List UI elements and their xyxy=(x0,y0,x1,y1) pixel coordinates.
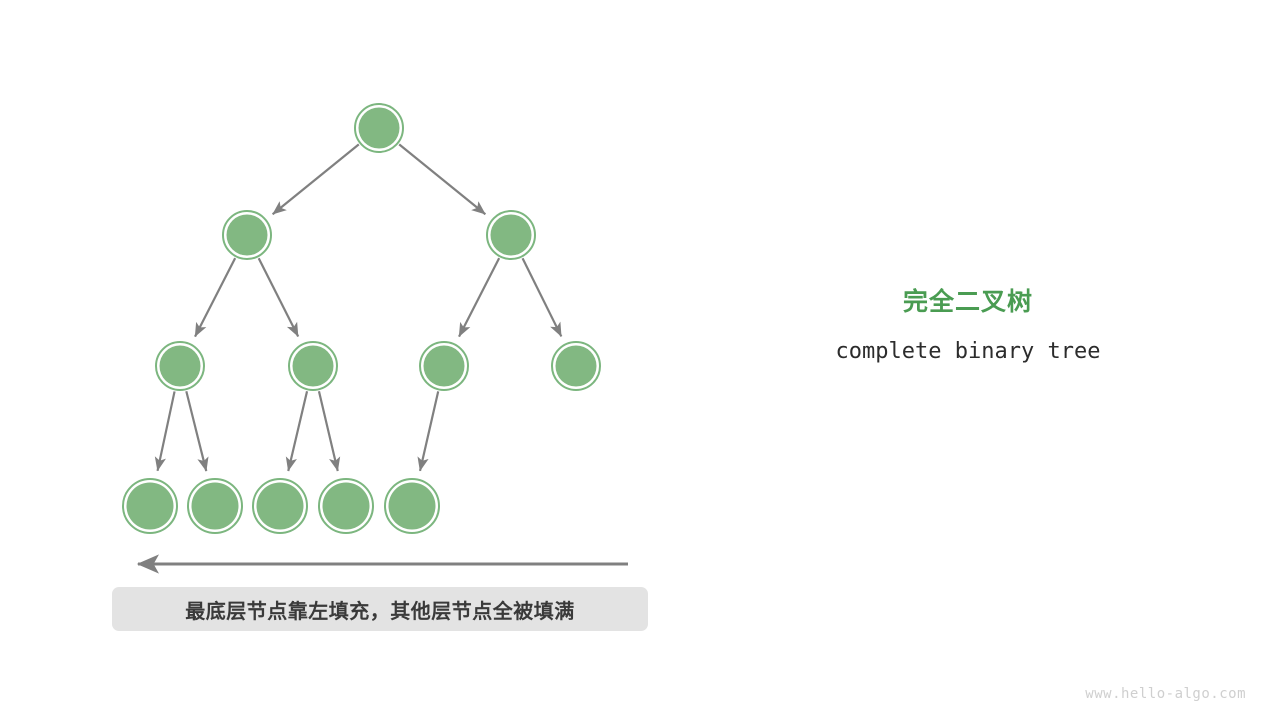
legend-block: 完全二叉树 complete binary tree xyxy=(700,285,1236,367)
tree-node-disc xyxy=(227,215,268,256)
tree-node xyxy=(552,342,600,390)
diagram-canvas: 完全二叉树 complete binary tree 最底层节点靠左填充，其他层… xyxy=(0,0,1280,720)
tree-node xyxy=(188,479,242,533)
tree-node-disc xyxy=(389,483,436,530)
tree-node-disc xyxy=(293,346,334,387)
tree-edge xyxy=(288,391,307,471)
tree-edge xyxy=(523,258,562,336)
tree-node xyxy=(289,342,337,390)
diagram-title-cn: 完全二叉树 xyxy=(700,285,1236,319)
tree-edge xyxy=(420,391,438,471)
tree-node-disc xyxy=(424,346,465,387)
diagram-subtitle-en: complete binary tree xyxy=(700,337,1236,367)
tree-node-disc xyxy=(192,483,239,530)
tree-node xyxy=(156,342,204,390)
tree-edge xyxy=(459,258,499,336)
tree-edge xyxy=(259,258,298,336)
tree-node-disc xyxy=(359,108,400,149)
tree-edge xyxy=(273,144,359,214)
tree-node xyxy=(385,479,439,533)
tree-node xyxy=(420,342,468,390)
caption-box: 最底层节点靠左填充，其他层节点全被填满 xyxy=(112,587,648,631)
tree-node xyxy=(223,211,271,259)
tree-node-disc xyxy=(556,346,597,387)
tree-node-disc xyxy=(160,346,201,387)
tree-node xyxy=(123,479,177,533)
watermark: www.hello-algo.com xyxy=(1085,686,1246,702)
tree-node xyxy=(487,211,535,259)
tree-edge xyxy=(186,391,206,471)
tree-edge xyxy=(399,144,485,214)
tree-node-disc xyxy=(257,483,304,530)
tree-node-disc xyxy=(127,483,174,530)
tree-node xyxy=(253,479,307,533)
tree-edge xyxy=(158,391,175,470)
tree-edge xyxy=(195,258,235,336)
tree-node xyxy=(319,479,373,533)
tree-node-disc xyxy=(323,483,370,530)
tree-nodes xyxy=(123,104,600,533)
caption-text: 最底层节点靠左填充，其他层节点全被填满 xyxy=(185,595,575,624)
tree-edges xyxy=(158,144,562,471)
tree-node-disc xyxy=(491,215,532,256)
tree-edge xyxy=(319,391,338,471)
tree-node xyxy=(355,104,403,152)
